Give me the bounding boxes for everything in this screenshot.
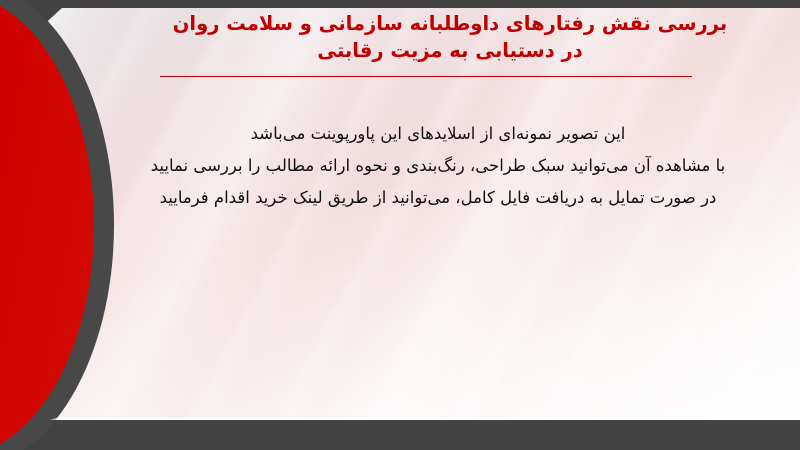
body-text-line-2: با مشاهده آن می‌توانید سبک طراحی، رنگ‌بن… [112, 150, 764, 182]
panel-bottom-edge [0, 418, 800, 420]
slide-title: بررسی نقش رفتارهای داوطلبانه سازمانی و س… [130, 10, 770, 64]
body-text-line-3: در صورت تمایل به دریافت فایل کامل، می‌تو… [112, 182, 764, 214]
body-text-line-1: این تصویر نمونه‌ای از اسلایدهای این پاور… [112, 118, 764, 150]
panel-sheen-overlay [0, 8, 800, 420]
presentation-slide: بررسی نقش رفتارهای داوطلبانه سازمانی و س… [0, 0, 800, 450]
slide-body-text: این تصویر نمونه‌ای از اسلایدهای این پاور… [112, 118, 764, 214]
slide-title-line-2: در دستیابی به مزیت رقابتی [130, 37, 770, 64]
slide-title-line-1: بررسی نقش رفتارهای داوطلبانه سازمانی و س… [130, 10, 770, 37]
title-underline-rule [160, 76, 692, 77]
slide-content-panel [0, 8, 800, 420]
